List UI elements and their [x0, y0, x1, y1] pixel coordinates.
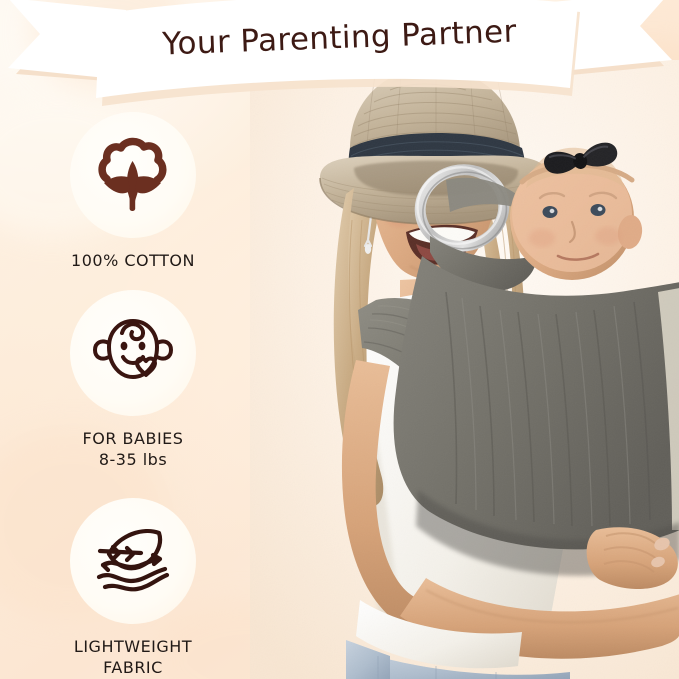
- feature-badge-circle: [70, 112, 196, 238]
- feature-label-babies-sub: 8-35 lbs: [40, 449, 226, 470]
- feature-label-babies-main: FOR BABIES: [83, 429, 184, 448]
- feather-on-fabric-waves-icon: [87, 523, 179, 599]
- feature-label-babies: FOR BABIES 8-35 lbs: [40, 428, 226, 470]
- feature-cotton: 100% COTTON: [40, 112, 226, 271]
- feature-lightweight: LIGHTWEIGHT FABRIC: [40, 498, 226, 678]
- feature-label-lightweight: LIGHTWEIGHT FABRIC: [40, 636, 226, 678]
- feature-label-cotton-main: 100% COTTON: [71, 251, 195, 270]
- product-feature-image: Your Parenting Partner: [0, 0, 679, 679]
- feature-label-cotton: 100% COTTON: [40, 250, 226, 271]
- feature-label-lightweight-main: LIGHTWEIGHT: [74, 637, 192, 656]
- product-photo: [250, 60, 679, 679]
- feature-badge-circle: [70, 498, 196, 624]
- baby-face-heart-icon: [89, 313, 177, 393]
- cotton-boll-icon: [91, 133, 175, 217]
- feature-badge-circle: [70, 290, 196, 416]
- feature-label-lightweight-sub: FABRIC: [40, 657, 226, 678]
- feature-babies: FOR BABIES 8-35 lbs: [40, 290, 226, 470]
